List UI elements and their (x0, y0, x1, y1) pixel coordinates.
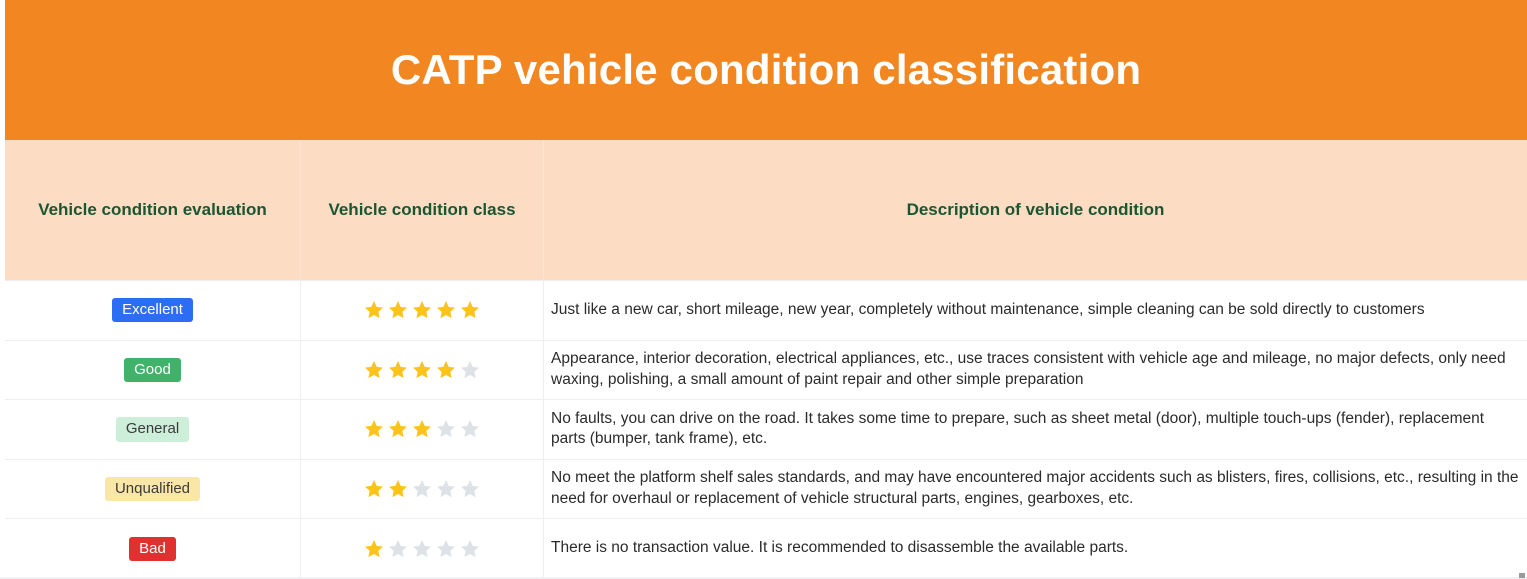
evaluation-cell: Unqualified (5, 460, 301, 519)
description-text: Just like a new car, short mileage, new … (551, 300, 1425, 321)
star-rating (363, 299, 481, 321)
table-header-row: Vehicle condition evaluation Vehicle con… (5, 140, 1527, 280)
status-badge[interactable]: General (116, 417, 189, 441)
description-text: Appearance, interior decoration, electri… (551, 349, 1519, 391)
star-filled-icon (387, 478, 409, 500)
description-text: No meet the platform shelf sales standar… (551, 468, 1519, 510)
star-empty-icon (459, 478, 481, 500)
star-filled-icon (411, 359, 433, 381)
star-empty-icon (435, 418, 457, 440)
star-rating (363, 359, 481, 381)
condition-class-cell (301, 400, 544, 459)
star-empty-icon (435, 478, 457, 500)
star-filled-icon (363, 538, 385, 560)
condition-table: Vehicle condition evaluation Vehicle con… (5, 140, 1527, 579)
star-filled-icon (387, 359, 409, 381)
table-row: UnqualifiedNo meet the platform shelf sa… (5, 459, 1527, 519)
description-cell: No faults, you can drive on the road. It… (544, 400, 1527, 459)
star-filled-icon (387, 299, 409, 321)
evaluation-cell: Excellent (5, 281, 301, 340)
description-text: There is no transaction value. It is rec… (551, 538, 1128, 559)
status-badge[interactable]: Bad (129, 537, 176, 561)
description-text: No faults, you can drive on the road. It… (551, 409, 1519, 451)
corner-artifact (1519, 573, 1525, 578)
description-cell: Appearance, interior decoration, electri… (544, 341, 1527, 400)
status-badge[interactable]: Excellent (112, 298, 193, 322)
star-empty-icon (459, 359, 481, 381)
column-header-description: Description of vehicle condition (544, 140, 1527, 280)
table-row: GeneralNo faults, you can drive on the r… (5, 399, 1527, 459)
star-empty-icon (459, 538, 481, 560)
status-badge[interactable]: Unqualified (105, 477, 200, 501)
column-header-class: Vehicle condition class (301, 140, 544, 280)
star-filled-icon (363, 478, 385, 500)
description-cell: Just like a new car, short mileage, new … (544, 281, 1527, 340)
star-empty-icon (435, 538, 457, 560)
column-header-evaluation: Vehicle condition evaluation (5, 140, 301, 280)
description-cell: There is no transaction value. It is rec… (544, 519, 1527, 578)
star-filled-icon (387, 418, 409, 440)
star-rating (363, 478, 481, 500)
title-banner: CATP vehicle condition classification (5, 0, 1527, 140)
vehicle-condition-classification-page: CATP vehicle condition classification Ve… (0, 0, 1527, 579)
star-filled-icon (435, 359, 457, 381)
condition-class-cell (301, 519, 544, 578)
table-row: BadThere is no transaction value. It is … (5, 518, 1527, 578)
star-filled-icon (363, 418, 385, 440)
evaluation-cell: General (5, 400, 301, 459)
star-filled-icon (459, 299, 481, 321)
star-filled-icon (411, 418, 433, 440)
condition-class-cell (301, 460, 544, 519)
condition-class-cell (301, 341, 544, 400)
star-filled-icon (363, 359, 385, 381)
description-cell: No meet the platform shelf sales standar… (544, 460, 1527, 519)
star-empty-icon (459, 418, 481, 440)
star-filled-icon (363, 299, 385, 321)
table-row: ExcellentJust like a new car, short mile… (5, 280, 1527, 340)
star-empty-icon (411, 538, 433, 560)
star-rating (363, 538, 481, 560)
star-empty-icon (387, 538, 409, 560)
table-body: ExcellentJust like a new car, short mile… (5, 280, 1527, 578)
evaluation-cell: Good (5, 341, 301, 400)
star-rating (363, 418, 481, 440)
page-title: CATP vehicle condition classification (391, 47, 1141, 93)
star-filled-icon (435, 299, 457, 321)
table-row: GoodAppearance, interior decoration, ele… (5, 340, 1527, 400)
evaluation-cell: Bad (5, 519, 301, 578)
star-empty-icon (411, 478, 433, 500)
status-badge[interactable]: Good (124, 358, 181, 382)
star-filled-icon (411, 299, 433, 321)
condition-class-cell (301, 281, 544, 340)
